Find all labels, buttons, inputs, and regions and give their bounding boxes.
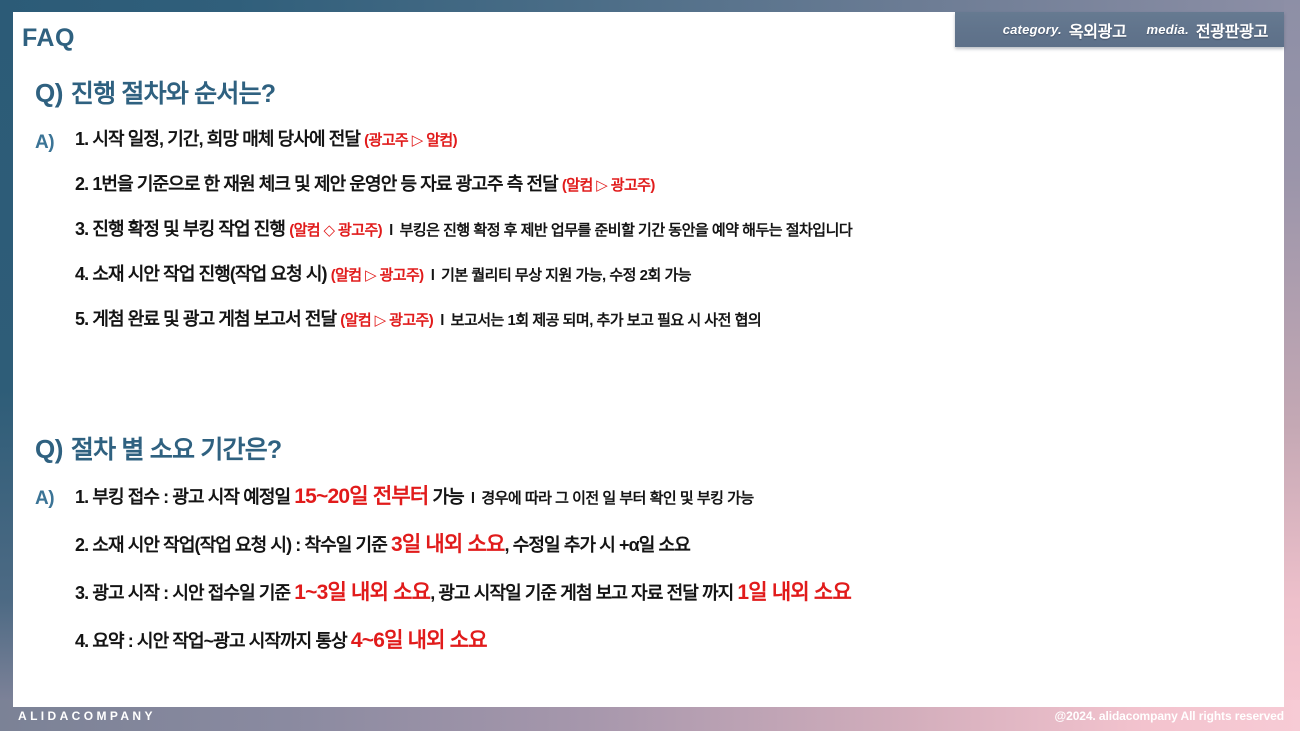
question-marker: Q)	[35, 78, 63, 109]
answer-item: 2. 1번을 기준으로 한 재원 체크 및 제안 운영안 등 자료 광고주 측 …	[75, 175, 1284, 193]
answer-item: 4. 소재 시안 작업 진행(작업 요청 시) (알컴 ▷ 광고주) l 기본 …	[75, 265, 1284, 283]
footer-copyright: @2024. alidacompany All rights reserved	[1055, 709, 1284, 723]
media-value: 전광판광고	[1196, 18, 1268, 42]
answer-pre-text: 4. 요약 : 시안 작업~광고 시작까지 통상	[75, 631, 351, 651]
qa-block-2: Q) 절차 별 소요 기간은? A) 1. 부킹 접수 : 광고 시작 예정일 …	[13, 430, 1284, 651]
answer-divider: l	[468, 490, 477, 507]
frame-left-bar	[0, 0, 13, 707]
answer-note: 기본 퀄리티 무상 지원 가능, 수정 2회 가능	[441, 267, 691, 284]
category-label: category.	[1003, 22, 1062, 37]
answer-note: 보고서는 1회 제공 되며, 추가 보고 필요 시 사전 협의	[451, 312, 762, 329]
footer-brand: ALIDACOMPANY	[18, 709, 156, 723]
answer-divider: l	[428, 267, 437, 284]
page-title: FAQ	[22, 24, 75, 53]
answer-item: 3. 광고 시작 : 시안 접수일 기준 1~3일 내외 소요, 광고 시작일 …	[75, 582, 1284, 603]
answer-main-text: 2. 1번을 기준으로 한 재원 체크 및 제안 운영안 등 자료 광고주 측 …	[75, 174, 558, 194]
answer-item: 4. 요약 : 시안 작업~광고 시작까지 통상 4~6일 내외 소요	[75, 630, 1284, 651]
answer-mid-text: , 수정일 추가 시 +α일 소요	[505, 535, 690, 555]
slide-content-area: FAQ category. 옥외광고 media. 전광판광고 Q) 진행 절차…	[13, 12, 1284, 707]
answer-highlight: 3일 내외 소요	[391, 533, 505, 556]
answer-flow-tag: (알컴 ▷ 광고주)	[340, 312, 433, 329]
answer-pre-text: 1. 부킹 접수 : 광고 시작 예정일	[75, 487, 294, 507]
answer-pre-text: 3. 광고 시작 : 시안 접수일 기준	[75, 583, 294, 603]
frame-right-bar	[1284, 0, 1300, 707]
answer-flow-tag: (알컴 ◇ 광고주)	[289, 222, 382, 239]
answer-highlight: 15~20일 전부터	[294, 485, 428, 508]
answer-marker: A)	[35, 486, 75, 510]
answer-flow-tag: (광고주 ▷ 알컴)	[364, 132, 457, 149]
answer-mid-text: 가능	[428, 487, 463, 507]
answer-mid-text: , 광고 시작일 기준 게첨 보고 자료 전달 까지	[430, 583, 737, 603]
answer-divider: l	[437, 312, 446, 329]
answer-item: 3. 진행 확정 및 부킹 작업 진행 (알컴 ◇ 광고주) l 부킹은 진행 …	[75, 220, 1284, 238]
answer-main-text: 3. 진행 확정 및 부킹 작업 진행	[75, 219, 285, 239]
answer-wrap-2: A) 1. 부킹 접수 : 광고 시작 예정일 15~20일 전부터 가능 l …	[13, 486, 1284, 651]
answer-flow-tag: (알컴 ▷ 광고주)	[562, 177, 655, 194]
answer-note: 부킹은 진행 확정 후 제반 업무를 준비할 기간 동안을 예약 해두는 절차입…	[400, 222, 853, 239]
answer-main-text: 1. 시작 일정, 기간, 희망 매체 당사에 전달	[75, 129, 360, 149]
media-label: media.	[1147, 22, 1189, 37]
answer-marker: A)	[35, 130, 75, 154]
category-band: category. 옥외광고 media. 전광판광고	[955, 12, 1284, 47]
answer-list-2: 1. 부킹 접수 : 광고 시작 예정일 15~20일 전부터 가능 l 경우에…	[75, 486, 1284, 651]
answer-list-1: 1. 시작 일정, 기간, 희망 매체 당사에 전달 (광고주 ▷ 알컴) 2.…	[75, 130, 1284, 328]
answer-item: 1. 부킹 접수 : 광고 시작 예정일 15~20일 전부터 가능 l 경우에…	[75, 486, 1284, 507]
qa-block-1: Q) 진행 절차와 순서는? A) 1. 시작 일정, 기간, 희망 매체 당사…	[13, 74, 1284, 328]
answer-item: 2. 소재 시안 작업(작업 요청 시) : 착수일 기준 3일 내외 소요, …	[75, 534, 1284, 555]
question-row-2: Q) 절차 별 소요 기간은?	[13, 430, 1284, 466]
question-marker: Q)	[35, 434, 63, 465]
category-value: 옥외광고	[1069, 18, 1127, 42]
answer-flow-tag: (알컴 ▷ 광고주)	[331, 267, 424, 284]
answer-highlight: 1일 내외 소요	[737, 581, 851, 604]
answer-highlight: 1~3일 내외 소요	[294, 581, 430, 604]
question-text: 진행 절차와 순서는?	[71, 74, 275, 110]
answer-item: 5. 게첨 완료 및 광고 게첨 보고서 전달 (알컴 ▷ 광고주) l 보고서…	[75, 310, 1284, 328]
answer-main-text: 4. 소재 시안 작업 진행(작업 요청 시)	[75, 264, 327, 284]
answer-wrap-1: A) 1. 시작 일정, 기간, 희망 매체 당사에 전달 (광고주 ▷ 알컴)…	[13, 130, 1284, 328]
question-row-1: Q) 진행 절차와 순서는?	[13, 74, 1284, 110]
faq-slide: FAQ category. 옥외광고 media. 전광판광고 Q) 진행 절차…	[0, 0, 1300, 731]
answer-divider: l	[386, 222, 395, 239]
answer-item: 1. 시작 일정, 기간, 희망 매체 당사에 전달 (광고주 ▷ 알컴)	[75, 130, 1284, 148]
frame-top-bar	[0, 0, 1300, 12]
question-text: 절차 별 소요 기간은?	[71, 430, 282, 466]
answer-highlight: 4~6일 내외 소요	[351, 629, 487, 652]
answer-pre-text: 2. 소재 시안 작업(작업 요청 시) : 착수일 기준	[75, 535, 391, 555]
answer-main-text: 5. 게첨 완료 및 광고 게첨 보고서 전달	[75, 309, 336, 329]
answer-note: 경우에 따라 그 이전 일 부터 확인 및 부킹 가능	[481, 490, 753, 507]
